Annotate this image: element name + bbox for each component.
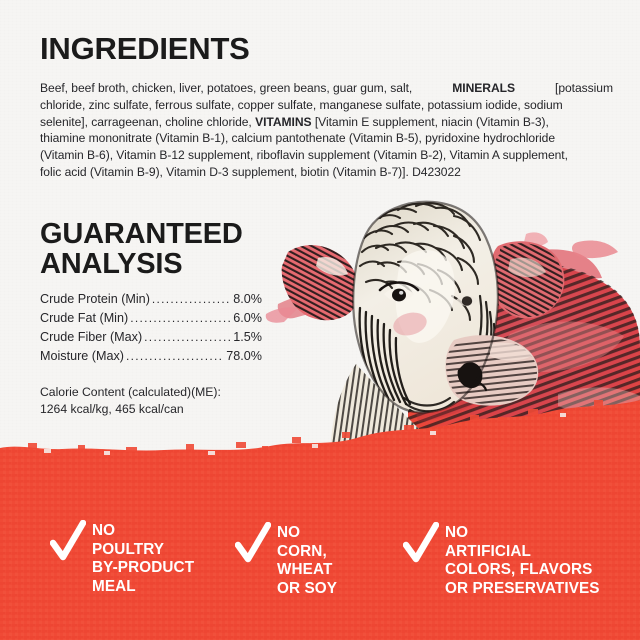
check-icon bbox=[50, 520, 86, 564]
claim-line-1-rest: POULTRY bbox=[92, 541, 194, 560]
ga-row-crude-fat: Crude Fat (Min) ........................… bbox=[40, 311, 262, 330]
calorie-content-label: Calorie Content (calculated)(ME): bbox=[40, 384, 221, 401]
ga-leader-dots: ............................ bbox=[130, 311, 231, 325]
ga-value: 8.0% bbox=[233, 292, 262, 306]
guaranteed-analysis-table: Crude Protein (Min) ....................… bbox=[40, 292, 262, 368]
claim-text: NO ARTIFICIAL COLORS, FLAVORS OR PRESERV… bbox=[445, 522, 600, 598]
check-icon bbox=[403, 522, 439, 566]
claim-line-2: COLORS, FLAVORS bbox=[445, 561, 600, 580]
claim-line-1-rest: CORN, bbox=[277, 543, 337, 562]
ingredients-line-1: Beef, beef broth, chicken, liver, potato… bbox=[40, 80, 613, 97]
vitamins-bracket-open: [Vitamin E supplement, niacin (Vitamin B… bbox=[312, 115, 549, 129]
claim-emphasis: NO bbox=[92, 522, 115, 539]
ga-row-crude-fiber: Crude Fiber (Max) ......................… bbox=[40, 330, 262, 349]
calorie-content: Calorie Content (calculated)(ME): 1264 k… bbox=[40, 384, 221, 417]
minerals-label: MINERALS bbox=[452, 80, 515, 97]
claim-no-artificial-colors-flavors-preservatives: NO ARTIFICIAL COLORS, FLAVORS OR PRESERV… bbox=[403, 522, 600, 598]
claim-no-poultry-by-product-meal: NO POULTRY BY-PRODUCT MEAL bbox=[50, 520, 194, 596]
pet-food-label: INGREDIENTS Beef, beef broth, chicken, l… bbox=[0, 0, 640, 640]
ingredients-heading: INGREDIENTS bbox=[40, 33, 250, 64]
claim-emphasis: NO bbox=[445, 524, 468, 541]
check-icon bbox=[235, 522, 271, 566]
minerals-bracket-open: [potassium bbox=[555, 80, 613, 97]
claim-line-1: NO CORN, bbox=[277, 524, 337, 561]
claim-line-3: OR SOY bbox=[277, 580, 337, 599]
ingredients-line-6-row: folic acid (Vitamin B-9), Vitamin D-3 su… bbox=[40, 164, 613, 181]
claim-no-corn-wheat-or-soy: NO CORN, WHEAT OR SOY bbox=[235, 522, 337, 598]
ga-heading-line-1: GUARANTEED bbox=[40, 219, 243, 249]
ingredients-text: Beef, beef broth, chicken, liver, potato… bbox=[40, 80, 613, 181]
ingredients-line-2: chloride, zinc sulfate, ferrous sulfate,… bbox=[40, 97, 613, 114]
ingredients-line-4: thiamine mononitrate (Vitamin B-1), calc… bbox=[40, 130, 613, 147]
calorie-content-value: 1264 kcal/kg, 465 kcal/can bbox=[40, 401, 221, 418]
ga-label: Crude Fiber (Max) bbox=[40, 330, 142, 344]
claim-text: NO POULTRY BY-PRODUCT MEAL bbox=[92, 520, 194, 596]
claims-row: NO POULTRY BY-PRODUCT MEAL NO CORN, WHEA… bbox=[0, 516, 640, 596]
claim-line-2: WHEAT bbox=[277, 561, 337, 580]
claim-line-1: NO POULTRY bbox=[92, 522, 194, 559]
claim-emphasis: NO bbox=[277, 524, 300, 541]
ga-row-moisture: Moisture (Max) .........................… bbox=[40, 349, 262, 368]
ga-label: Moisture (Max) bbox=[40, 349, 124, 363]
vitamins-label: VITAMINS bbox=[255, 115, 311, 129]
ga-leader-dots: .................... bbox=[152, 292, 231, 306]
ga-value: 1.5% bbox=[233, 330, 262, 344]
ingredients-line-3: selenite], carrageenan, choline chloride… bbox=[40, 114, 613, 131]
ga-label: Crude Fat (Min) bbox=[40, 311, 128, 325]
claim-line-2: BY-PRODUCT bbox=[92, 559, 194, 578]
claim-text: NO CORN, WHEAT OR SOY bbox=[277, 522, 337, 598]
ingredients-line-5: (Vitamin B-6), Vitamin B-12 supplement, … bbox=[40, 147, 613, 164]
claim-line-3: MEAL bbox=[92, 578, 194, 597]
claim-line-1-rest: ARTIFICIAL bbox=[445, 543, 600, 562]
guaranteed-analysis-heading: GUARANTEED ANALYSIS bbox=[40, 219, 243, 279]
claim-line-1: NO ARTIFICIAL bbox=[445, 524, 600, 561]
ga-leader-dots: ........................ bbox=[144, 330, 231, 344]
ga-leader-dots: .......................... bbox=[126, 349, 224, 363]
ingredients-line-3-main: selenite], carrageenan, choline chloride… bbox=[40, 115, 255, 129]
ingredients-line-6: folic acid (Vitamin B-9), Vitamin D-3 su… bbox=[40, 165, 409, 179]
ga-row-crude-protein: Crude Protein (Min) ....................… bbox=[40, 292, 262, 311]
product-code: D423022 bbox=[412, 165, 461, 179]
ga-heading-line-2: ANALYSIS bbox=[40, 249, 243, 279]
ingredients-line-1-main: Beef, beef broth, chicken, liver, potato… bbox=[40, 80, 412, 97]
claim-line-3: OR PRESERVATIVES bbox=[445, 580, 600, 599]
ga-label: Crude Protein (Min) bbox=[40, 292, 150, 306]
ga-value: 6.0% bbox=[233, 311, 262, 325]
ga-value: 78.0% bbox=[226, 349, 262, 363]
